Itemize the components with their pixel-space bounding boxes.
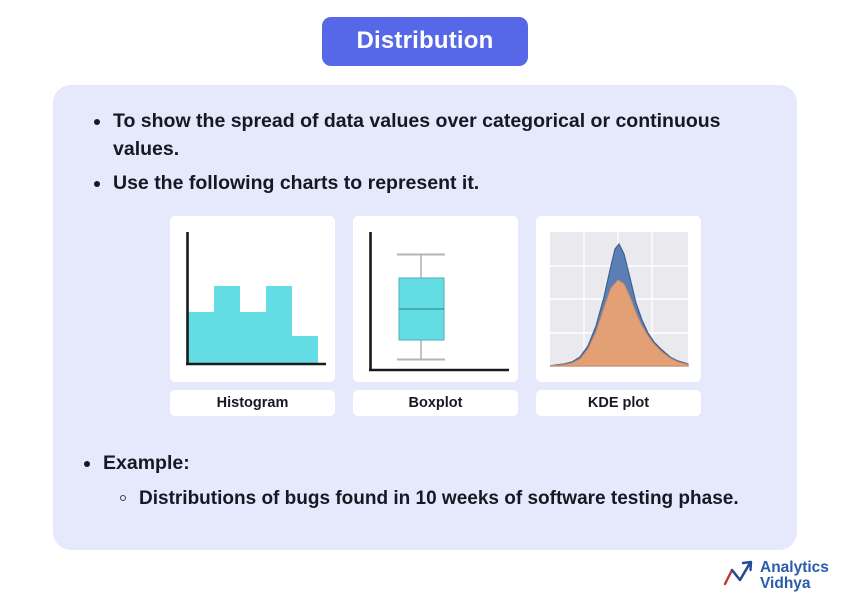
logo-line-1: Analytics bbox=[760, 560, 829, 576]
logo-wordmark: Analytics Vidhya bbox=[760, 560, 829, 592]
chart-cards-row: Histogram Boxp bbox=[170, 216, 700, 416]
chart-card-kde[interactable]: KDE plot bbox=[536, 216, 701, 416]
main-bullet-list: To show the spread of data values over c… bbox=[89, 108, 749, 198]
chart-card-label: KDE plot bbox=[536, 390, 701, 416]
histogram-chart-icon bbox=[170, 216, 335, 382]
analytics-vidhya-arrow-icon bbox=[723, 560, 755, 593]
bullet-item: To show the spread of data values over c… bbox=[89, 108, 749, 163]
example-heading: Example: bbox=[79, 450, 779, 478]
chart-card-histogram[interactable]: Histogram bbox=[170, 216, 335, 416]
example-block: Example: Distributions of bugs found in … bbox=[79, 450, 779, 512]
logo-line-2: Vidhya bbox=[760, 576, 829, 592]
example-bullet-list: Example: bbox=[79, 450, 779, 478]
title-bar: Distribution bbox=[0, 17, 850, 66]
chart-card-boxplot[interactable]: Boxplot bbox=[353, 216, 518, 416]
example-sub-list: Distributions of bugs found in 10 weeks … bbox=[79, 485, 779, 513]
slide-title-badge: Distribution bbox=[322, 17, 527, 66]
content-panel: To show the spread of data values over c… bbox=[53, 85, 797, 550]
bullet-item: Use the following charts to represent it… bbox=[89, 170, 749, 198]
chart-card-label: Boxplot bbox=[353, 390, 518, 416]
chart-card-label: Histogram bbox=[170, 390, 335, 416]
kde-plot-chart-icon bbox=[536, 216, 701, 382]
example-sub-item: Distributions of bugs found in 10 weeks … bbox=[117, 485, 779, 513]
boxplot-chart-icon bbox=[353, 216, 518, 382]
analytics-vidhya-logo: Analytics Vidhya bbox=[723, 557, 835, 595]
